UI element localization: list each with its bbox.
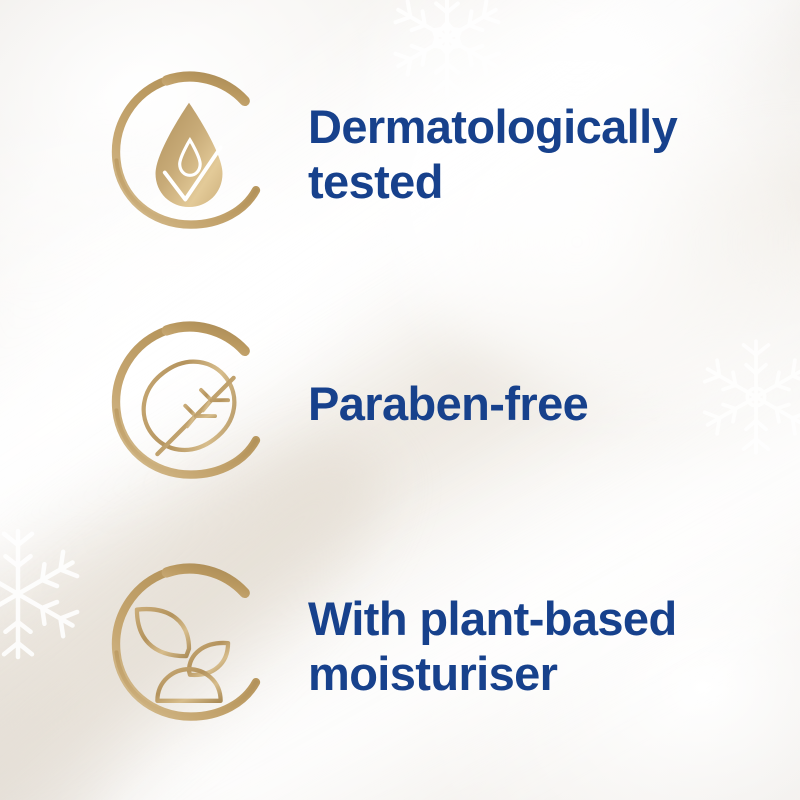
benefit-label: Paraben-free: [308, 376, 588, 431]
sprout-icon: [96, 552, 282, 738]
benefit-row: With plant-based moisturiser: [96, 552, 760, 738]
crossed-leaf-icon: [96, 310, 282, 496]
benefit-label: With plant-based moisturiser: [308, 591, 677, 702]
benefit-row: Paraben-free: [96, 310, 760, 496]
droplet-check-icon: [96, 60, 282, 246]
benefit-row: Dermatologically tested: [96, 60, 760, 246]
benefit-label: Dermatologically tested: [308, 99, 677, 210]
benefits-panel: Dermatologically tested: [0, 0, 800, 800]
benefits-list: Dermatologically tested: [0, 0, 800, 800]
